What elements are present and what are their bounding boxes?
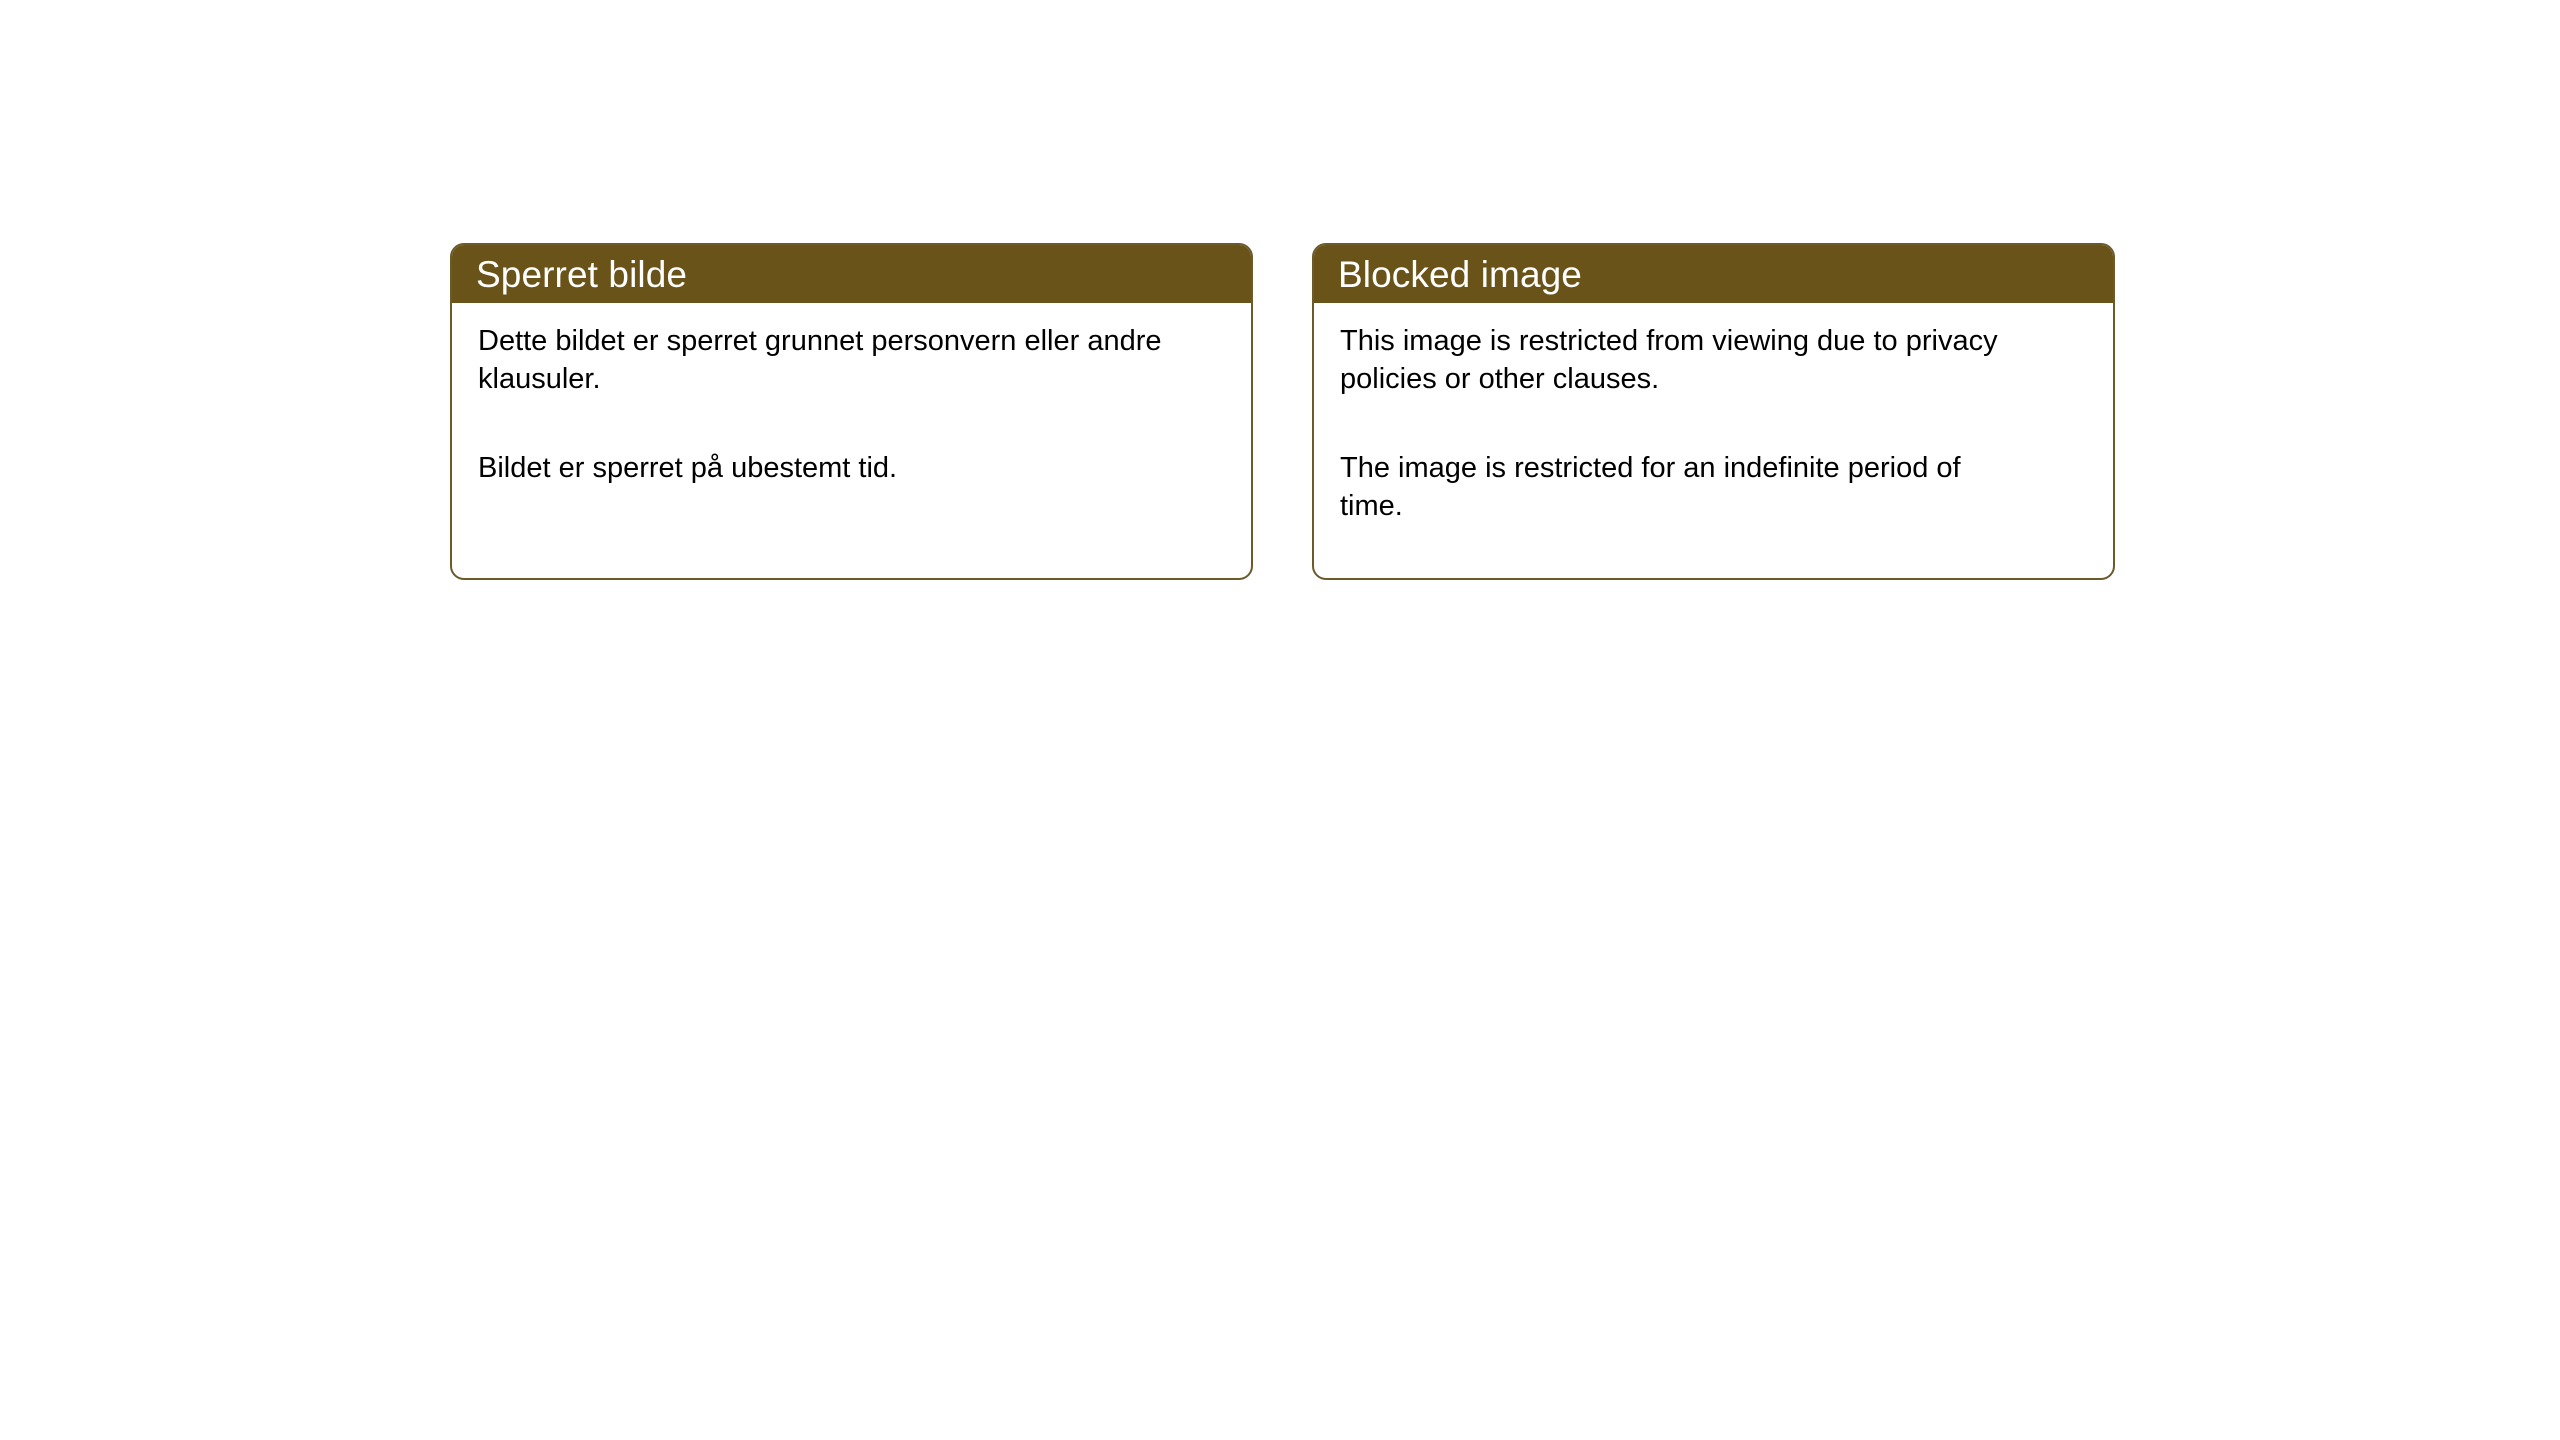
notice-paragraph-duration-no: Bildet er sperret på ubestemt tid.: [478, 450, 1168, 488]
blocked-image-notice-card-en: Blocked image This image is restricted f…: [1312, 243, 2115, 580]
notice-header-en: Blocked image: [1314, 245, 2113, 303]
notice-paragraph-reason-no: Dette bildet er sperret grunnet personve…: [478, 323, 1168, 398]
notice-title-en: Blocked image: [1338, 256, 1582, 293]
notice-body-en: This image is restricted from viewing du…: [1314, 303, 2113, 526]
page-canvas: Sperret bilde Dette bildet er sperret gr…: [0, 0, 2560, 1440]
notice-paragraph-reason-en: This image is restricted from viewing du…: [1340, 323, 2030, 398]
blocked-image-notice-card-no: Sperret bilde Dette bildet er sperret gr…: [450, 243, 1253, 580]
notice-header-no: Sperret bilde: [452, 245, 1251, 303]
notice-paragraph-duration-en: The image is restricted for an indefinit…: [1340, 450, 2030, 525]
notice-title-no: Sperret bilde: [476, 256, 687, 293]
notice-body-no: Dette bildet er sperret grunnet personve…: [452, 303, 1251, 488]
